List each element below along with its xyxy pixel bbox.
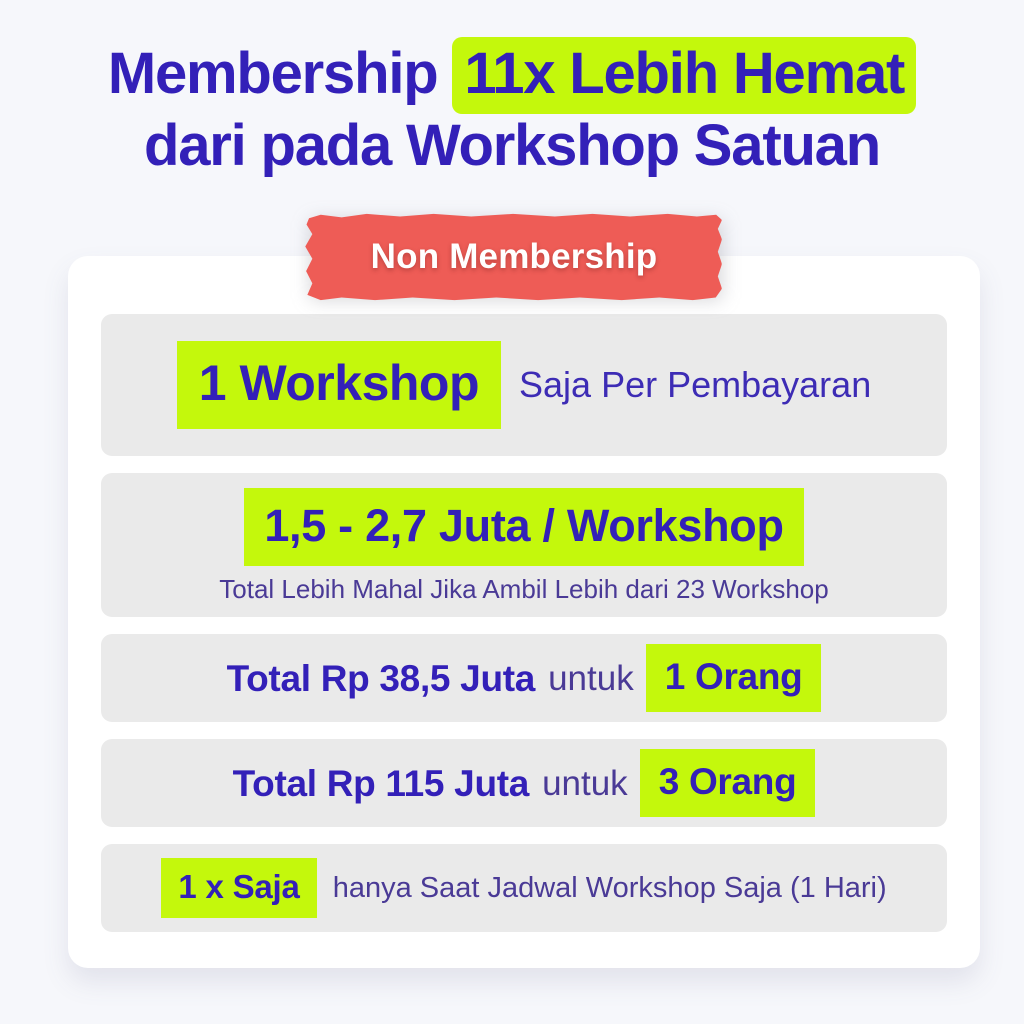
row-1-plain: Saja Per Pembayaran [501,367,871,403]
table-row: 1,5 - 2,7 Juta / Workshop Total Lebih Ma… [101,473,947,617]
row-3-bold: Total Rp 38,5 Juta [227,660,536,697]
banner-label: Non Membership [302,210,726,305]
row-2-subtext: Total Lebih Mahal Jika Ambil Lebih dari … [219,572,828,602]
headline-line-2: dari pada Workshop Satuan [0,110,1024,182]
row-3-plain: untuk [535,661,646,696]
row-5-plain: hanya Saat Jadwal Workshop Saja (1 Hari) [317,874,887,903]
row-5-highlight: 1 x Saja [161,858,316,918]
row-1-content: 1 Workshop Saja Per Pembayaran [177,341,871,429]
table-row: 1 Workshop Saja Per Pembayaran [101,314,947,456]
headline-highlight-text: 11x Lebih Hemat [452,37,916,114]
row-4-bold: Total Rp 115 Juta [233,765,529,802]
page-headline: Membership 11x Lebih Hemat dari pada Wor… [0,38,1024,182]
table-row: Total Rp 115 Juta untuk 3 Orang [101,739,947,827]
row-1-highlight: 1 Workshop [177,341,501,429]
row-5-content: 1 x Saja hanya Saat Jadwal Workshop Saja… [161,858,886,918]
row-3-highlight: 1 Orang [646,644,822,712]
row-3-content: Total Rp 38,5 Juta untuk 1 Orang [227,644,822,712]
row-2-highlight: 1,5 - 2,7 Juta / Workshop [244,488,803,566]
table-row: 1 x Saja hanya Saat Jadwal Workshop Saja… [101,844,947,932]
row-2-content: 1,5 - 2,7 Juta / Workshop [244,488,803,566]
row-4-content: Total Rp 115 Juta untuk 3 Orang [233,749,816,817]
table-row: Total Rp 38,5 Juta untuk 1 Orang [101,634,947,722]
headline-line-1: Membership 11x Lebih Hemat [0,38,1024,110]
headline-plain-text: Membership [108,41,453,106]
comparison-card: 1 Workshop Saja Per Pembayaran 1,5 - 2,7… [68,256,980,968]
row-4-plain: untuk [529,766,640,801]
non-membership-banner: Non Membership [302,210,726,305]
row-4-highlight: 3 Orang [640,749,816,817]
